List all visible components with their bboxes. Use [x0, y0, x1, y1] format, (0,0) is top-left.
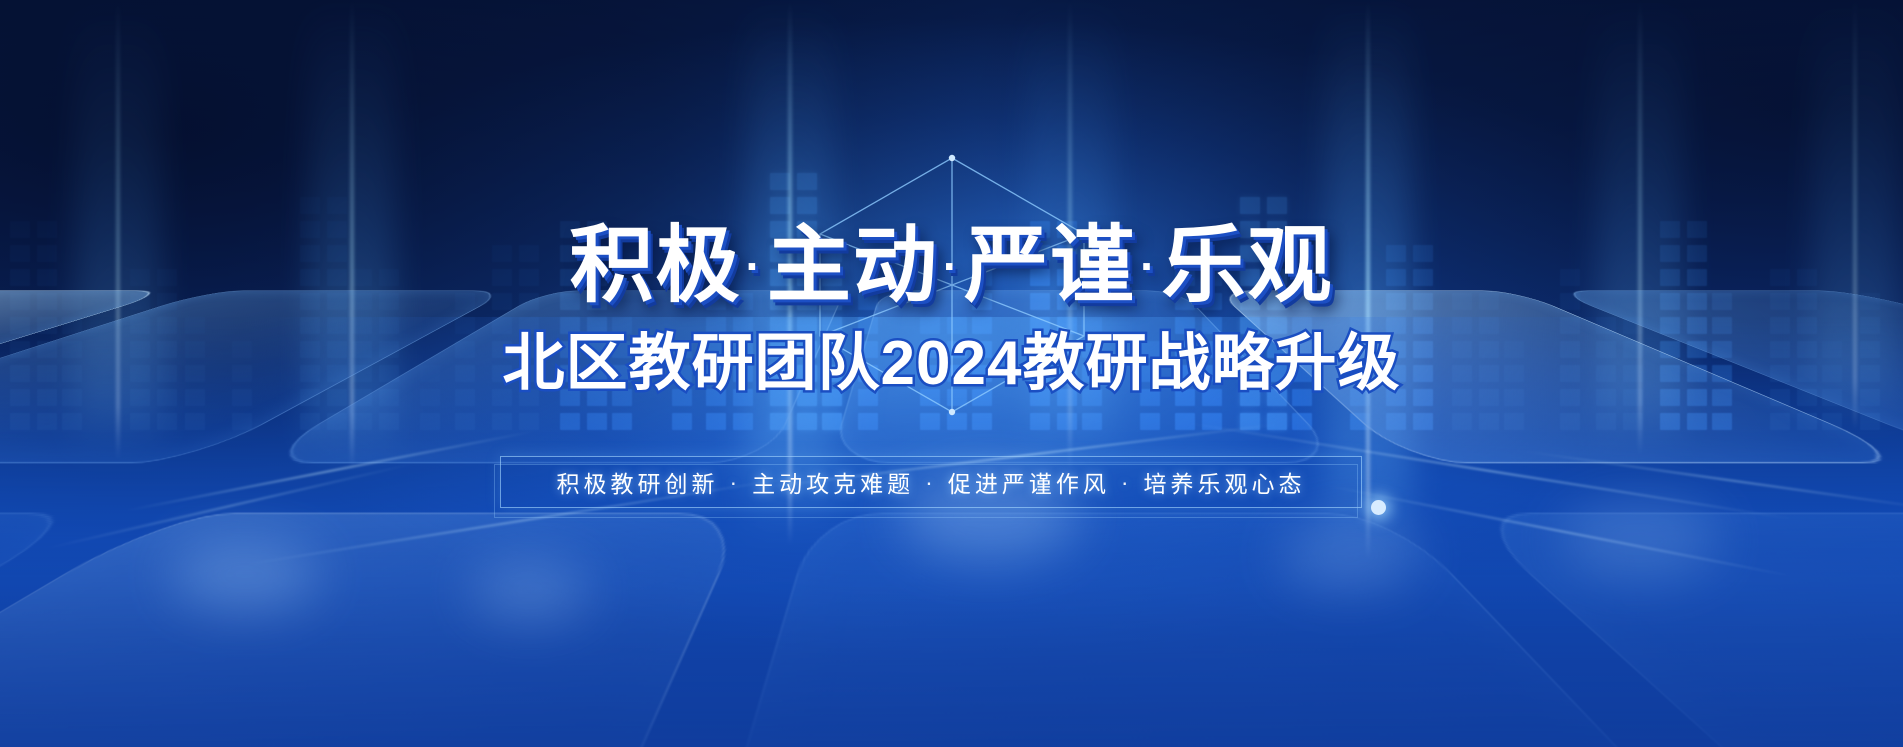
tagline-segment: 积极教研创新 — [556, 465, 718, 499]
title-segment: 严谨 — [964, 218, 1136, 312]
banner-title: 积极·主动·严谨·乐观 — [0, 198, 1903, 319]
tagline-separator: · — [1121, 469, 1133, 496]
title-segment: 乐观 — [1162, 218, 1334, 312]
title-separator-dot: · — [745, 239, 762, 293]
glow-dot-icon — [1371, 500, 1386, 515]
title-segment: 主动 — [767, 218, 939, 312]
tagline-segment: 促进严谨作风 — [948, 465, 1110, 499]
tagline-segment: 培养乐观心态 — [1144, 465, 1306, 499]
event-banner: 积极·主动·严谨·乐观 北区教研团队2024教研战略升级 积极教研创新·主动攻克… — [0, 0, 1903, 747]
tagline-separator: · — [729, 469, 741, 496]
title-segment: 积极 — [569, 218, 741, 312]
banner-tagline: 积极教研创新·主动攻克难题·促进严谨作风·培养乐观心态 — [500, 456, 1362, 508]
title-separator-dot: · — [943, 239, 960, 293]
banner-subtitle: 北区教研团队2024教研战略升级 — [0, 312, 1903, 402]
title-separator-dot: · — [1140, 239, 1157, 293]
banner-content: 积极·主动·严谨·乐观 北区教研团队2024教研战略升级 积极教研创新·主动攻克… — [0, 0, 1903, 747]
tagline-separator: · — [925, 469, 937, 496]
tagline-segment: 主动攻克难题 — [752, 465, 914, 499]
